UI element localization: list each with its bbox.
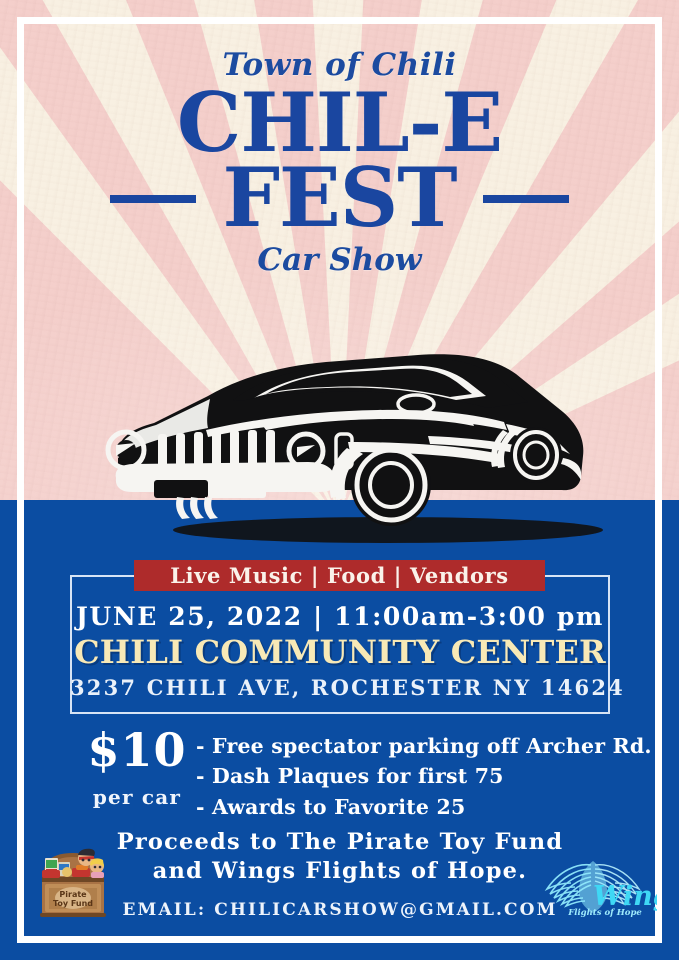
bullet-list: - Free spectator parking off Archer Rd. …	[196, 727, 652, 822]
price-column: $10 per car	[78, 727, 196, 822]
wings-tagline: Flights of Hope	[567, 908, 642, 918]
toy-fund-label-line2: Toy Fund	[53, 899, 93, 908]
toy-fund-label-line1: Pirate	[59, 890, 87, 899]
car-icon	[58, 330, 623, 545]
event-date-time: JUNE 25, 2022 | 11:00am-3:00 pm	[70, 602, 610, 631]
subkicker-text: Car Show	[0, 242, 679, 278]
price-amount: $10	[78, 727, 196, 773]
poster-canvas: Town of Chili CHIL-E FEST Car Show	[0, 0, 679, 960]
contact-email: EMAIL: CHILICARSHOW@GMAIL.COM	[70, 900, 610, 920]
list-item: - Dash Plaques for first 75	[196, 761, 652, 791]
wings-flights-of-hope-logo: Wings Flights of Hope	[533, 855, 657, 921]
treasure-chest-icon: Pirate Toy Fund	[36, 848, 110, 920]
proceeds-line-2: and Wings Flights of Hope.	[70, 857, 610, 886]
event-address: 3237 CHILI AVE, ROCHESTER NY 14624	[70, 675, 610, 700]
proceeds-block: Proceeds to The Pirate Toy Fund and Wing…	[70, 828, 610, 920]
classic-car-illustration	[58, 330, 623, 545]
proceeds-line-1: Proceeds to The Pirate Toy Fund	[70, 828, 610, 857]
event-venue: CHILI COMMUNITY CENTER	[70, 633, 610, 671]
title-dash-left	[110, 195, 196, 203]
price-unit: per car	[78, 785, 196, 809]
headline-block: Town of Chili CHIL-E FEST Car Show	[0, 0, 679, 278]
pirate-toy-fund-logo: Pirate Toy Fund	[36, 848, 110, 920]
list-item: - Free spectator parking off Archer Rd.	[196, 731, 652, 761]
title-dash-right	[483, 195, 569, 203]
features-banner: Live Music | Food | Vendors	[134, 560, 545, 591]
pricing-block: $10 per car - Free spectator parking off…	[78, 727, 598, 822]
event-details-text: JUNE 25, 2022 | 11:00am-3:00 pm CHILI CO…	[70, 596, 610, 700]
poster-title-line2-row: FEST	[0, 162, 679, 237]
poster-title-line2: FEST	[222, 162, 456, 237]
wings-icon: Wings Flights of Hope	[533, 855, 657, 921]
list-item: - Awards to Favorite 25	[196, 792, 652, 822]
